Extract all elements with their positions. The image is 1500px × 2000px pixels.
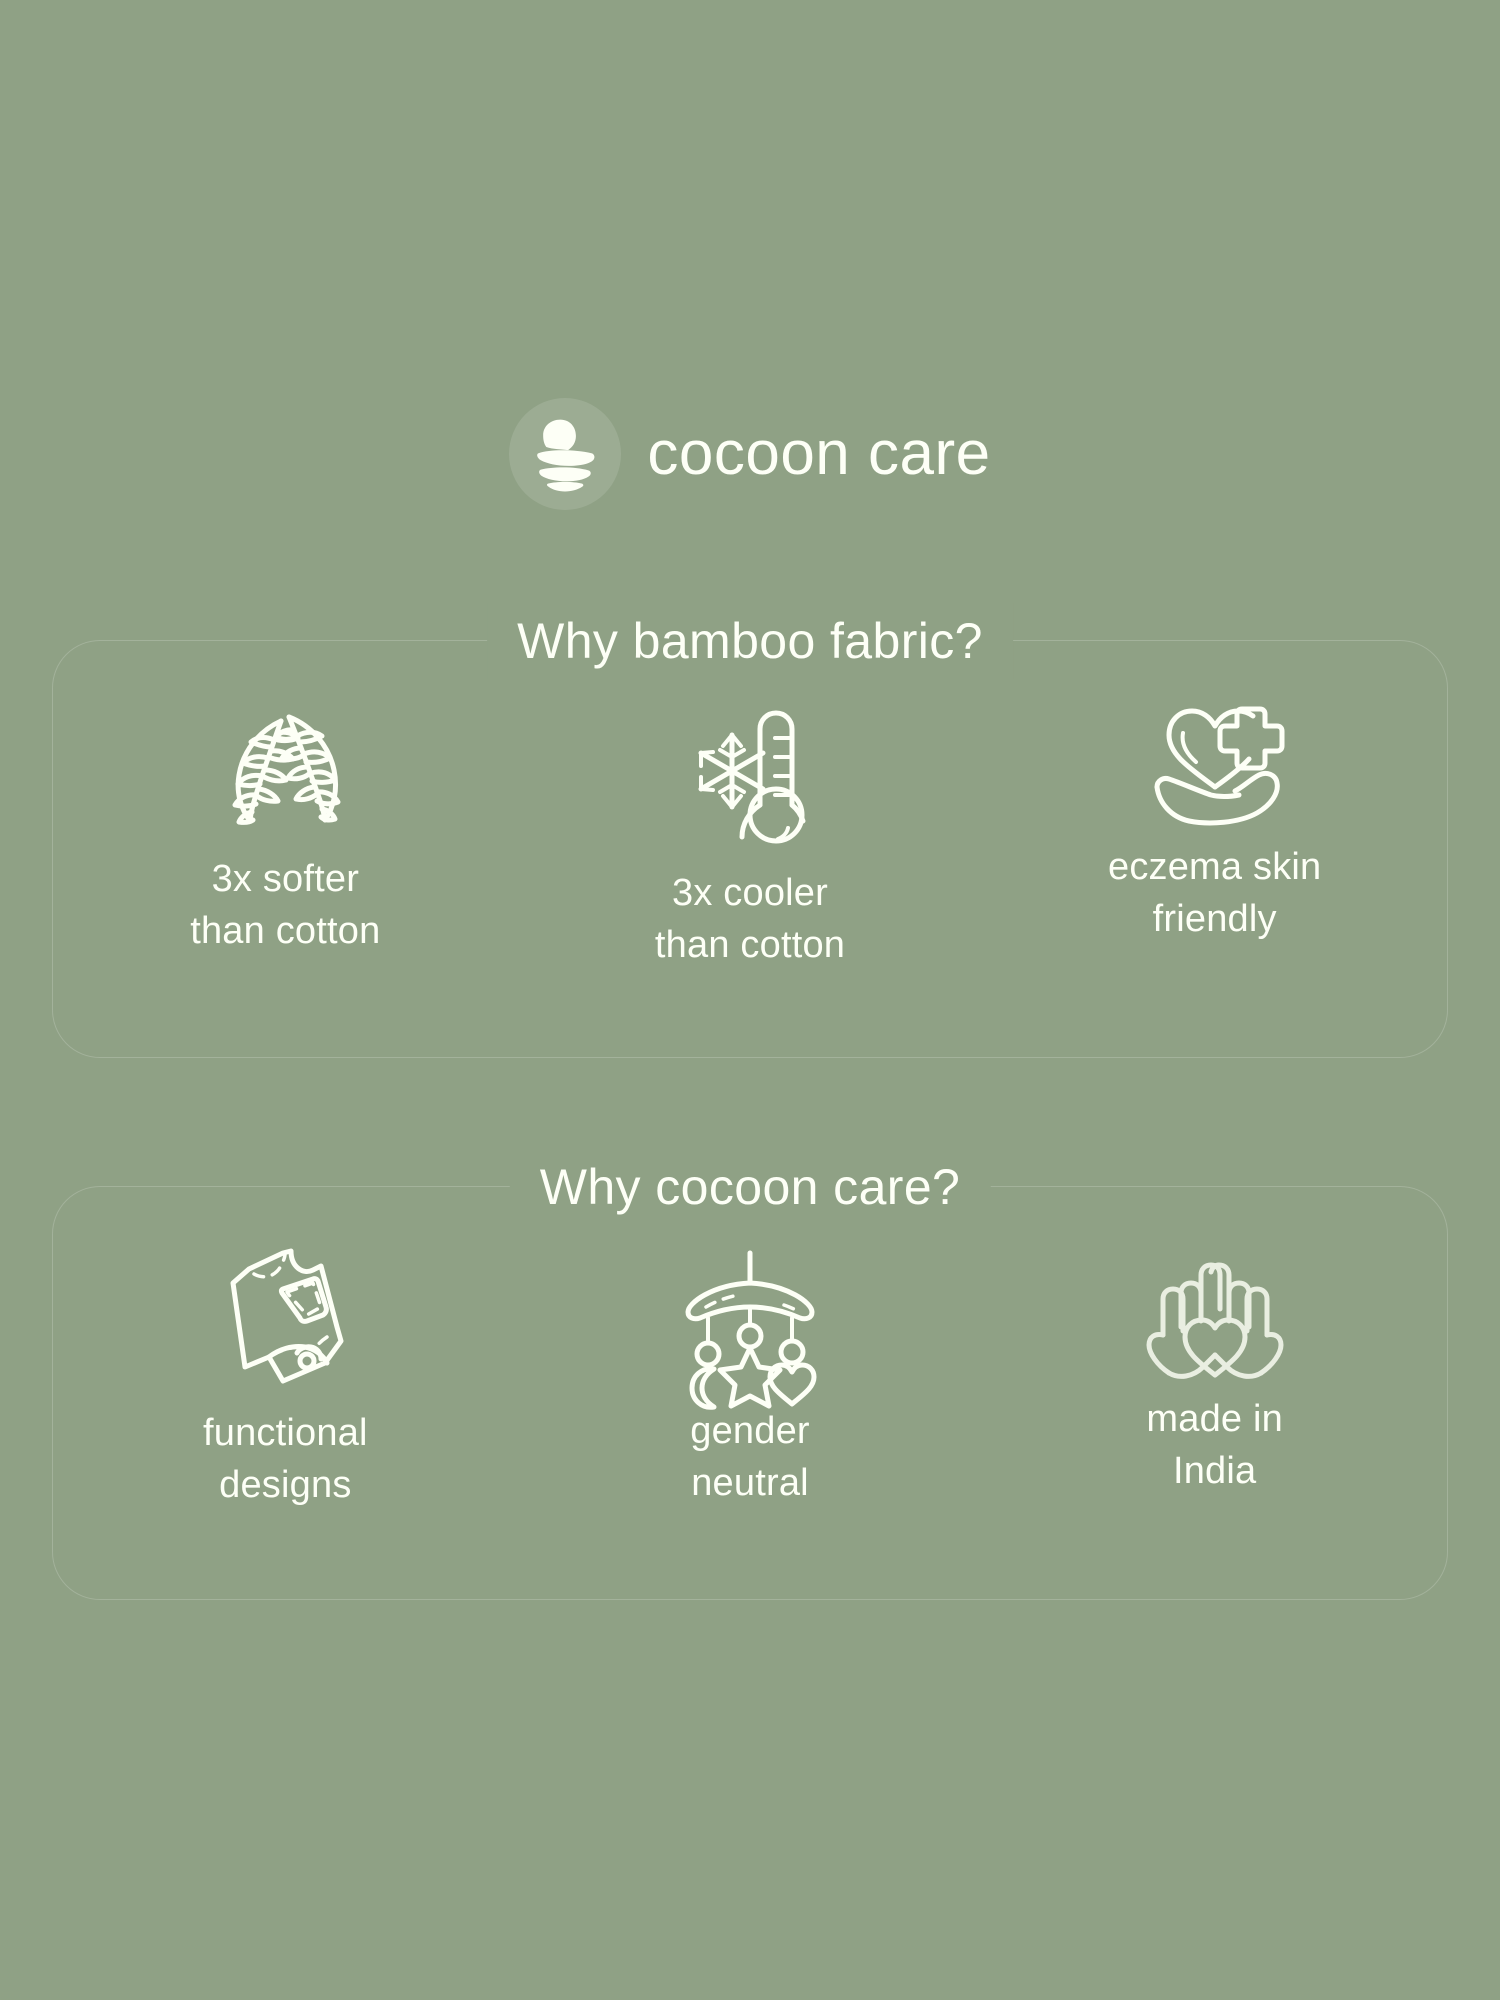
feature-cooler: 3x cooler than cotton bbox=[518, 647, 983, 972]
feature-label: eczema skin friendly bbox=[1108, 841, 1321, 946]
hands-holding-heart-icon bbox=[1145, 1251, 1285, 1379]
baby-onesie-icon bbox=[221, 1245, 349, 1387]
cocoon-nest-logo-icon bbox=[509, 398, 621, 510]
feature-label: 3x cooler than cotton bbox=[655, 867, 845, 972]
thermometer-snowflake-icon bbox=[687, 707, 813, 847]
feature-label: functional designs bbox=[203, 1407, 368, 1512]
heart-medical-cross-in-hand-icon bbox=[1147, 699, 1283, 827]
feature-gender-neutral: gender neutral bbox=[518, 1187, 983, 1510]
feature-label: 3x softer than cotton bbox=[190, 853, 380, 958]
brand-lockup: cocoon care bbox=[0, 398, 1500, 510]
feature-made-in-india: made in India bbox=[982, 1187, 1447, 1498]
section-why-bamboo-fabric: Why bamboo fabric? bbox=[52, 640, 1448, 1058]
feature-row: 3x softer than cotton bbox=[53, 641, 1447, 1057]
promo-page: cocoon care Why bamboo fabric? bbox=[0, 0, 1500, 2000]
feature-label: made in India bbox=[1146, 1393, 1283, 1498]
section-why-cocoon-care: Why cocoon care? bbox=[52, 1186, 1448, 1600]
feathers-icon bbox=[219, 703, 351, 831]
feature-row: functional designs bbox=[53, 1187, 1447, 1599]
brand-name: cocoon care bbox=[647, 423, 990, 485]
feature-eczema: eczema skin friendly bbox=[982, 637, 1447, 946]
crib-mobile-icon bbox=[680, 1249, 820, 1389]
feature-label: gender neutral bbox=[690, 1405, 810, 1510]
feature-softer: 3x softer than cotton bbox=[53, 641, 518, 958]
feature-functional-designs: functional designs bbox=[53, 1187, 518, 1512]
